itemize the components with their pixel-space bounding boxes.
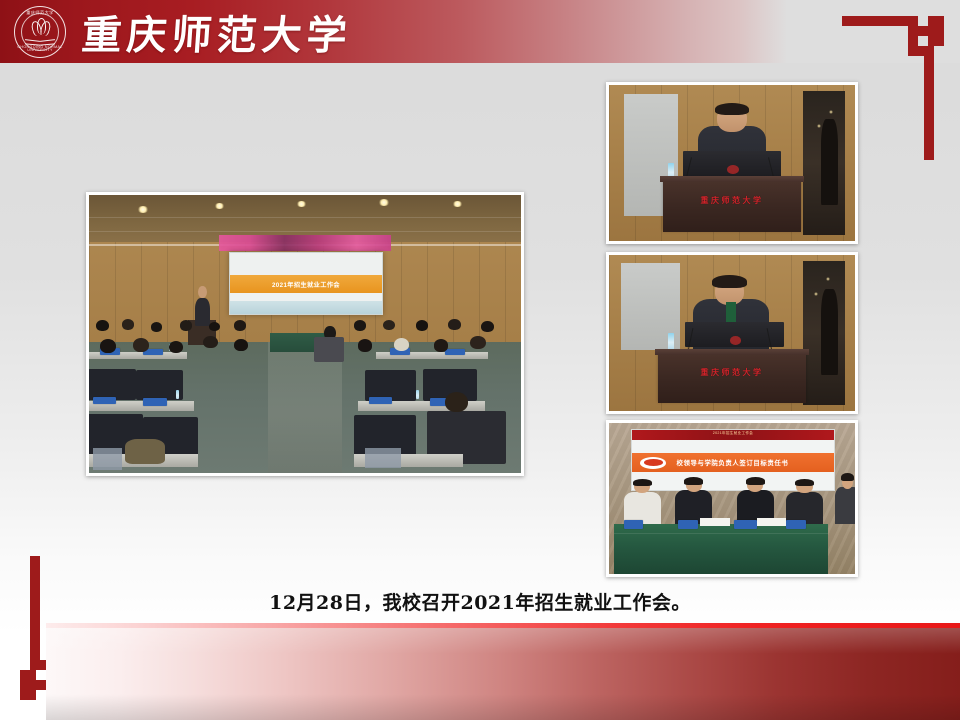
document [93, 448, 122, 470]
signing-document [700, 518, 730, 526]
seating-block-left [89, 317, 270, 473]
podium: 重庆师范大学 [663, 179, 801, 232]
standing-attendant [835, 473, 855, 524]
background-figure [821, 289, 838, 375]
speaker-hair [715, 103, 749, 115]
seal-bottom-text: CHONGQING NORMAL UNIVERSITY [14, 46, 66, 53]
water-bottle [668, 333, 674, 350]
podium: 重庆师范大学 [658, 352, 806, 403]
speaker-at-podium-photo-1: 重庆师范大学 [606, 82, 858, 244]
slide-caption: 12月28日，我校召开2021年招生就业工作会。 [0, 588, 960, 615]
page-header: 重庆师范大学 CHONGQING NORMAL UNIVERSITY 重庆师范大… [0, 0, 960, 63]
signing-table [614, 524, 828, 574]
document [365, 448, 401, 468]
name-plate [734, 520, 756, 529]
ceiling-light-icon [137, 206, 149, 213]
screen-banner-bar: 校领导与学院负责人签订目标责任书 [632, 453, 834, 472]
projection-screen-title: 2021年招生就业工作会 [272, 280, 340, 289]
header-brand: 重庆师范大学 CHONGQING NORMAL UNIVERSITY 重庆师范大… [0, 0, 352, 63]
speaker-at-podium-photo-2: 重庆师范大学 [606, 252, 858, 414]
signatory [624, 479, 661, 524]
signing-ceremony-photo: 2021年招生就业工作会 校领导与学院负责人签订目标责任书 [606, 420, 858, 577]
projection-screen: 2021年招生就业工作会 [229, 252, 382, 315]
name-plate [93, 397, 117, 405]
signing-document [757, 518, 787, 526]
led-banner-strip [219, 235, 392, 250]
footer-sheen-overlay [46, 628, 960, 720]
seating-block-right [340, 317, 521, 473]
signatory [786, 479, 823, 524]
university-seal-icon: 重庆师范大学 CHONGQING NORMAL UNIVERSITY [14, 6, 66, 58]
ceiling-light-icon [452, 201, 463, 207]
podium-university-name: 重庆师范大学 [658, 367, 806, 378]
name-plate [143, 398, 167, 406]
screen-logo-icon [640, 457, 666, 469]
seal-top-text: 重庆师范大学 [14, 11, 66, 15]
screen-banner-text: 校领导与学院负责人签订目标责任书 [676, 458, 788, 467]
water-bottle [416, 390, 419, 399]
ceiling-light-icon [296, 201, 307, 207]
bag [125, 439, 165, 464]
screen-header-bar: 2021年招生就业工作会 [632, 430, 834, 440]
name-plate [678, 520, 698, 529]
name-plate [786, 520, 806, 529]
name-plate [369, 397, 393, 405]
presentation-slide: 重庆师范大学 CHONGQING NORMAL UNIVERSITY 重庆师范大… [0, 0, 960, 720]
podium-university-name: 重庆师范大学 [663, 195, 801, 206]
conference-hall-photo: 2021年招生就业工作会 [86, 192, 524, 476]
university-wordmark: 重庆师范大学 [80, 3, 354, 61]
laptop [683, 151, 781, 178]
hall-aisle [268, 342, 341, 473]
background-figure [821, 119, 838, 205]
screen-header-text: 2021年招生就业工作会 [632, 431, 834, 436]
name-plate [624, 520, 644, 529]
wall-lamp-icon [817, 124, 821, 128]
name-plate [445, 349, 465, 355]
projection-screen-title-bar: 2021年招生就业工作会 [230, 275, 381, 293]
wall-lamp-icon [829, 110, 833, 114]
chair [89, 369, 136, 400]
speaker-hair [712, 275, 746, 287]
water-bottle [176, 390, 179, 399]
